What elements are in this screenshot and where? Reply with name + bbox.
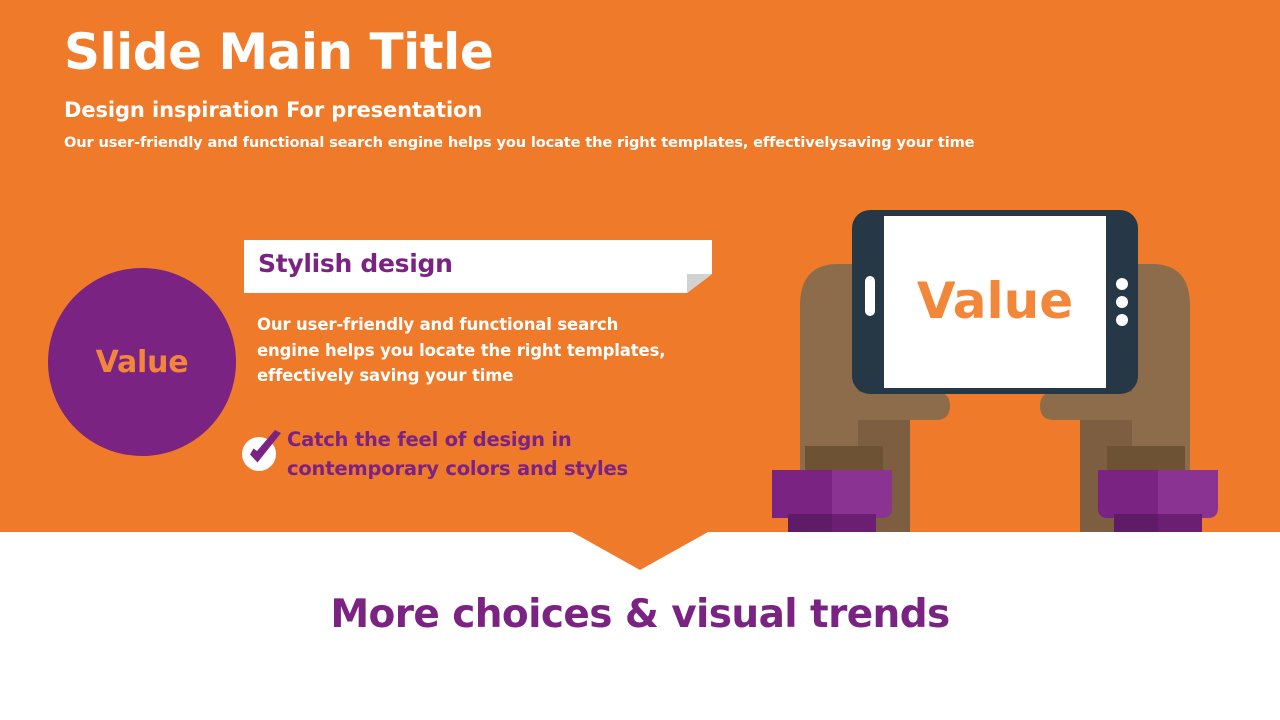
- check-circle-icon: [240, 429, 284, 473]
- slide-footer: More choices & visual trends: [0, 592, 1280, 637]
- left-wrist-band: [805, 446, 883, 472]
- slide-canvas: Slide Main Title Design inspiration For …: [0, 0, 1280, 720]
- tablet-screen-label: Value: [917, 272, 1073, 330]
- card-body-text: Our user-friendly and functional search …: [257, 312, 677, 389]
- speaker-slot-icon: [865, 276, 875, 316]
- bullet-label: Catch the feel of design in contemporary…: [287, 426, 707, 484]
- folded-corner-icon: [687, 274, 712, 293]
- footer-title: More choices & visual trends: [0, 592, 1280, 637]
- stylish-design-card: Stylish design: [244, 240, 712, 296]
- page-title: Slide Main Title: [64, 24, 974, 80]
- right-wrist-band: [1107, 446, 1185, 472]
- slide-header: Slide Main Title Design inspiration For …: [64, 24, 974, 151]
- slide-description: Our user-friendly and functional search …: [64, 134, 974, 151]
- value-circle-label: Value: [96, 345, 189, 380]
- card-title: Stylish design: [258, 249, 453, 278]
- slide-subtitle: Design inspiration For presentation: [64, 98, 974, 122]
- right-thumb-shape: [1040, 392, 1132, 420]
- bullet-item: Catch the feel of design in contemporary…: [240, 426, 710, 486]
- three-dots-icon: [1116, 278, 1128, 326]
- left-thumb-shape: [858, 392, 950, 420]
- band-arrow-notch: [572, 532, 708, 570]
- hands-holding-tablet-illustration: Value: [760, 196, 1230, 532]
- value-circle-badge: Value: [48, 268, 236, 456]
